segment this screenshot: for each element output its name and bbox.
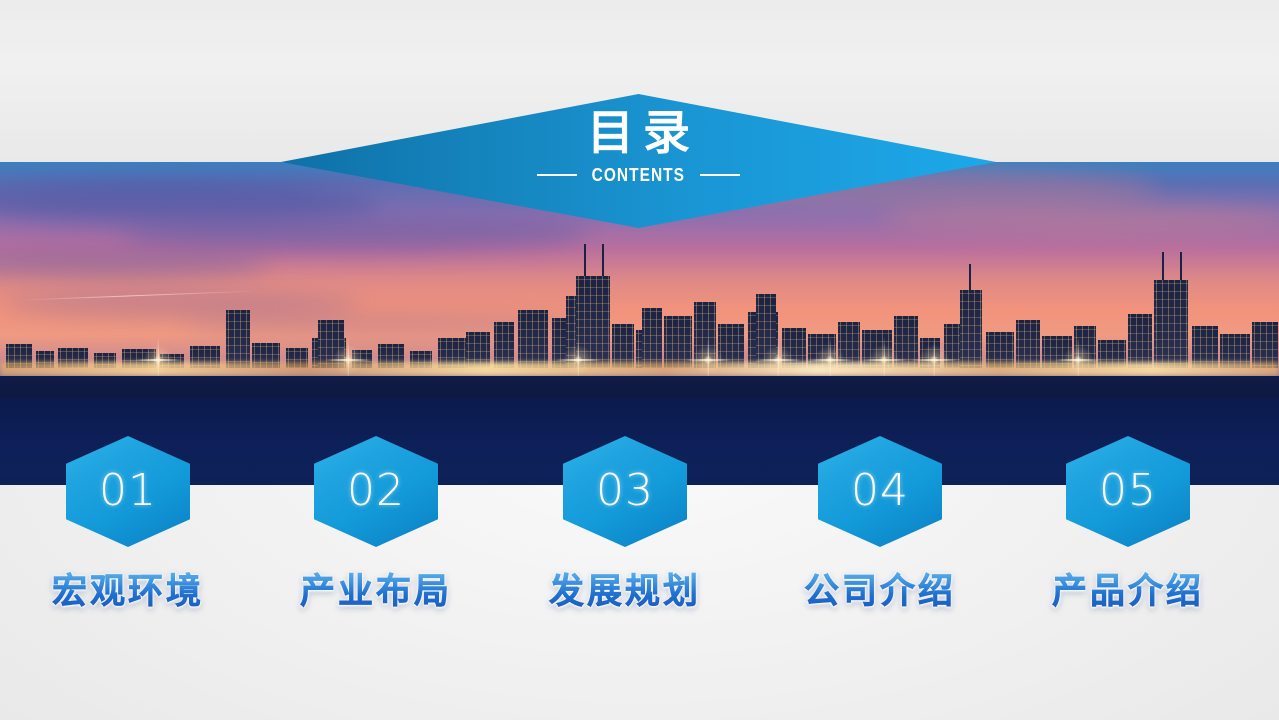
item-number: 03 (596, 469, 654, 513)
presentation-slide: 目录 CONTENTS 01 宏观环境 02 产业布局 03 发展规划 (0, 0, 1279, 720)
hexagon-badge-01[interactable]: 01 (66, 436, 190, 547)
item-label: 宏观环境 (28, 563, 228, 614)
agenda-item-02[interactable]: 02 产业布局 (276, 436, 476, 614)
item-number: 01 (99, 469, 157, 513)
item-label: 产品介绍 (1028, 563, 1228, 614)
hexagon-badge-02[interactable]: 02 (314, 436, 438, 547)
item-number: 02 (347, 469, 405, 513)
item-number: 04 (851, 469, 909, 513)
hexagon-badge-03[interactable]: 03 (563, 436, 687, 547)
agenda-item-04[interactable]: 04 公司介绍 (780, 436, 980, 614)
agenda-item-05[interactable]: 05 产品介绍 (1028, 436, 1228, 614)
agenda-item-01[interactable]: 01 宏观环境 (28, 436, 228, 614)
item-label: 公司介绍 (780, 563, 980, 614)
item-label: 发展规划 (525, 563, 725, 614)
item-number: 05 (1099, 469, 1157, 513)
agenda-items: 01 宏观环境 02 产业布局 03 发展规划 04 公司介绍 05 (0, 0, 1279, 720)
item-label: 产业布局 (276, 563, 476, 614)
agenda-item-03[interactable]: 03 发展规划 (525, 436, 725, 614)
hexagon-badge-05[interactable]: 05 (1066, 436, 1190, 547)
hexagon-badge-04[interactable]: 04 (818, 436, 942, 547)
